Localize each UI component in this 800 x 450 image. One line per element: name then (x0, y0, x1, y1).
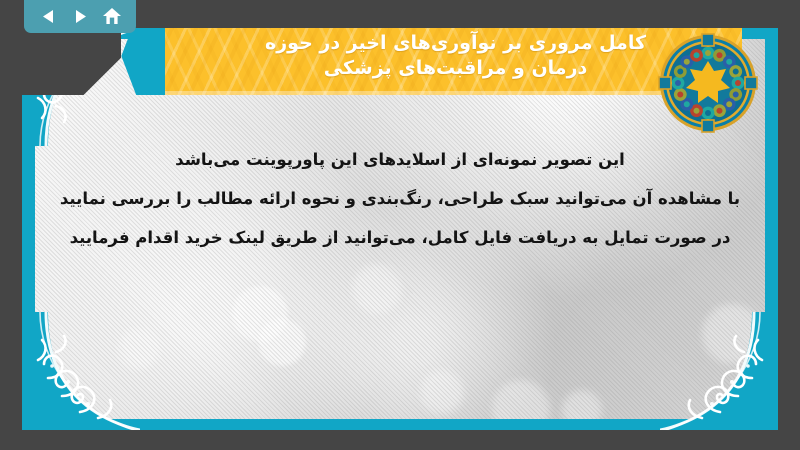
slide-frame-bottom (22, 419, 778, 430)
title-banner-body: کامل مروری بر نوآوری‌های اخیر در حوزه در… (165, 28, 742, 95)
slide-canvas: کامل مروری بر نوآوری‌های اخیر در حوزه در… (22, 28, 778, 430)
slide-frame-right (765, 28, 778, 430)
slide-body-text: این تصویر نمونه‌ای از اسلایدهای این پاور… (46, 140, 754, 257)
previous-slide-button[interactable] (35, 5, 61, 29)
triangle-left-icon (40, 8, 57, 25)
next-slide-button[interactable] (67, 5, 93, 29)
slide-title-line-2: درمان و مراقبت‌های پزشکی (165, 56, 646, 81)
navigation-toolbar (24, 0, 136, 33)
powerpoint-slide-viewer: کامل مروری بر نوآوری‌های اخیر در حوزه در… (0, 0, 800, 450)
title-banner-arrow-tail (121, 28, 165, 95)
slide-title-banner: کامل مروری بر نوآوری‌های اخیر در حوزه در… (22, 28, 742, 95)
slide-body-line-1: این تصویر نمونه‌ای از اسلایدهای این پاور… (46, 140, 754, 179)
bokeh-circle (420, 370, 464, 414)
slide-title-line-1: کامل مروری بر نوآوری‌های اخیر در حوزه (165, 31, 646, 56)
home-button[interactable] (99, 5, 125, 29)
bokeh-circle (118, 328, 160, 370)
triangle-right-icon (72, 8, 89, 25)
bokeh-circle (352, 264, 402, 314)
title-banner-dark-notch (22, 28, 121, 95)
bokeh-circle (702, 304, 762, 364)
slide-body-line-2: با مشاهده آن می‌توانید سبک طراحی، رنگ‌بن… (46, 179, 754, 218)
bokeh-circle (258, 318, 306, 366)
slide-body-line-3: در صورت تمایل به دریافت فایل کامل، می‌تو… (46, 218, 754, 257)
home-icon (102, 7, 122, 26)
arabesque-corner-ornament-bottom-left (22, 312, 140, 430)
